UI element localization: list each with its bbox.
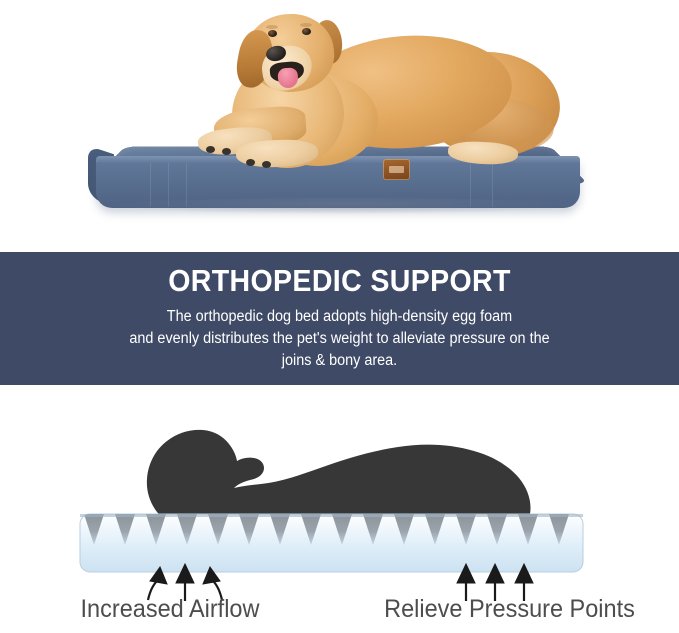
diagram-captions: Increased Airflow Relieve Pressure Point… [0,595,679,624]
egg-foam-diagram-section: Increased Airflow Relieve Pressure Point… [0,385,679,633]
dog-toe-nail [246,159,255,166]
dog-toe-nail [222,148,231,155]
orthopedic-support-banner: ORTHOPEDIC SUPPORT The orthopedic dog be… [0,252,679,385]
dog-brow-left [266,25,278,29]
golden-retriever-photo [0,0,679,243]
banner-title: ORTHOPEDIC SUPPORT [27,261,652,301]
dog-toe-nail [206,146,215,153]
dog-brow-right [300,23,312,27]
banner-description-line: The orthopedic dog bed adopts high-densi… [24,306,655,328]
caption-increased-airflow: Increased Airflow [10,595,330,624]
banner-description-line: joins & bony area. [24,350,655,372]
banner-description: The orthopedic dog bed adopts high-densi… [0,306,679,372]
product-photo-section [0,0,679,243]
dog-eye-right [302,28,311,35]
dog-eye-left [268,30,277,37]
banner-description-line: and evenly distributes the pet's weight … [24,328,655,350]
dog-toe-nail [262,161,271,168]
caption-relieve-pressure-points: Relieve Pressure Points [350,595,669,624]
